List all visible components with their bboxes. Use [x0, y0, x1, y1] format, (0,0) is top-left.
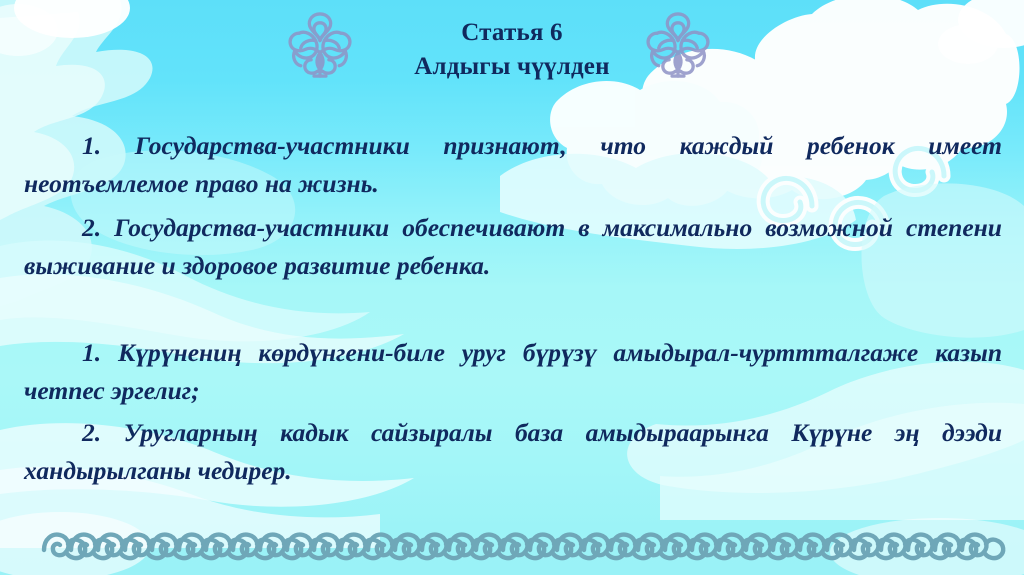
- russian-paragraph-1: 1. Государства-участники признают, что к…: [24, 127, 1002, 203]
- slide-title: Статья 6 Алдыгы чүүлден: [0, 16, 1024, 84]
- slide-text-content: Статья 6 Алдыгы чүүлден 1. Государства-у…: [0, 0, 1024, 575]
- russian-text-block: 1. Государства-участники признают, что к…: [24, 127, 1002, 285]
- title-line-tuvan: Алдыгы чүүлден: [0, 50, 1024, 84]
- title-line-article: Статья 6: [0, 16, 1024, 50]
- tuvan-text-block: 1. Күрүнениң көрдүнгени-биле уруг бүрүзү…: [24, 334, 1002, 490]
- spiral-wave-border: [0, 531, 1024, 565]
- tuvan-paragraph-1: 1. Күрүнениң көрдүнгени-биле уруг бүрүзү…: [24, 334, 1002, 410]
- russian-paragraph-2: 2. Государства-участники обеспечивают в …: [24, 209, 1002, 285]
- slide-canvas: Статья 6 Алдыгы чүүлден 1. Государства-у…: [0, 0, 1024, 575]
- tuvan-paragraph-2: 2. Уругларның кадык сайзыралы база амыды…: [24, 414, 1002, 490]
